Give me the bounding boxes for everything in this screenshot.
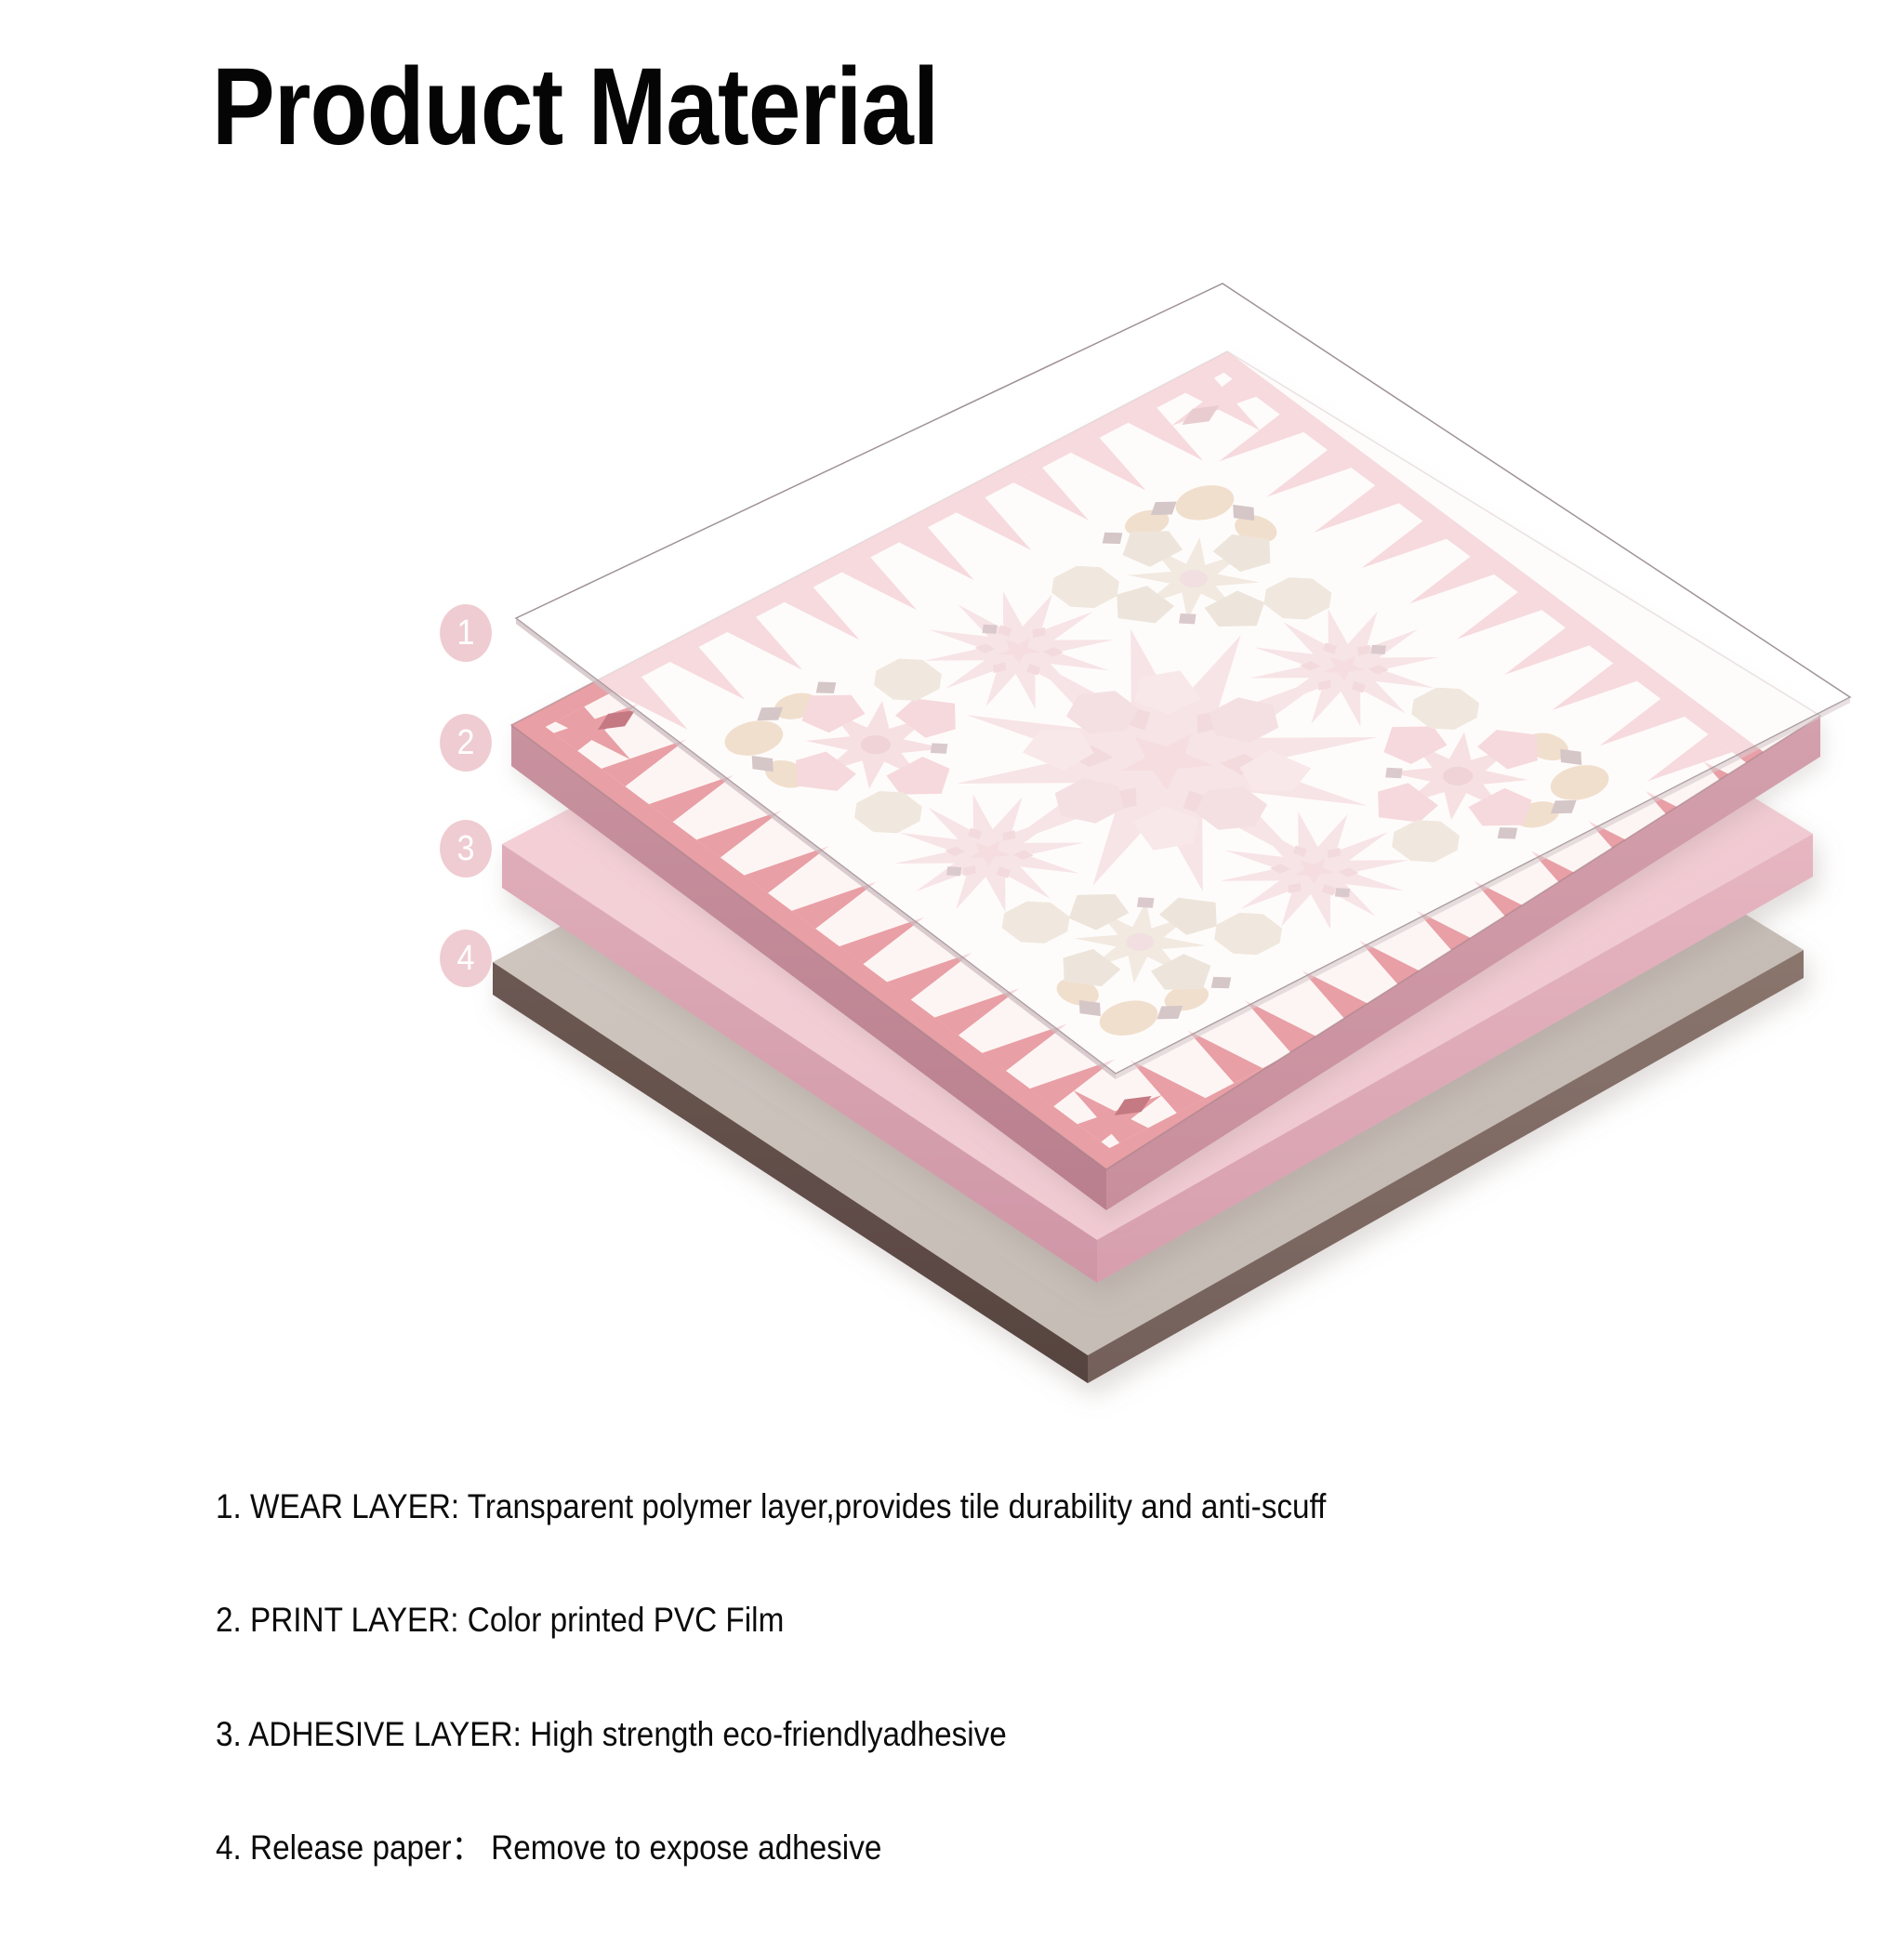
layer-badge-2[interactable]: 2 <box>440 714 492 772</box>
legend-item-wear-layer: 1. WEAR LAYER: Transparent polymer layer… <box>216 1485 1588 1528</box>
product-material-page: Product Material <box>0 0 1904 1904</box>
legend-item-adhesive-layer: 3. ADHESIVE LAYER: High strength eco-fri… <box>216 1713 1588 1756</box>
legend-item-release-paper: 4. Release paper： Remove to expose adhes… <box>216 1827 1588 1869</box>
layer-badge-3[interactable]: 3 <box>440 820 492 878</box>
layer-badge-1[interactable]: 1 <box>440 604 492 662</box>
layer-badge-4[interactable]: 4 <box>440 930 492 987</box>
legend-item-print-layer: 2. PRINT LAYER: Color printed PVC Film <box>216 1599 1588 1642</box>
layer-legend-list: 1. WEAR LAYER: Transparent polymer layer… <box>216 1485 1740 1940</box>
